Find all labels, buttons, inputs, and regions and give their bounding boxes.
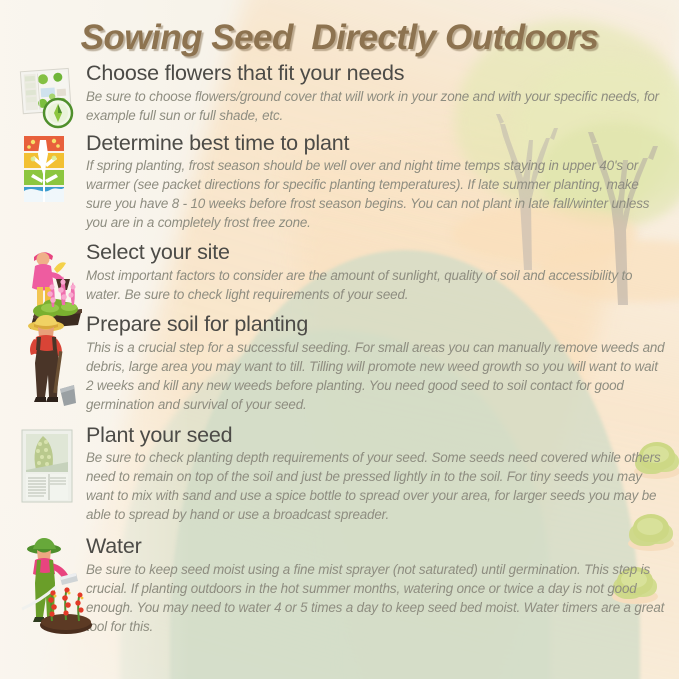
step-item-determine-time: Determine best time to plant If spring p… <box>0 132 679 233</box>
step-heading: Select your site <box>86 241 665 264</box>
garden-plan-compass-icon <box>16 64 78 132</box>
seed-packet-icon <box>16 426 82 508</box>
step-heading: Water <box>86 535 665 558</box>
step-item-water: Water Be sure to keep seed moist using a… <box>0 535 679 636</box>
step-item-plant-seed: Plant your seed Be sure to check plantin… <box>0 424 679 525</box>
page-title: Sowing Seed Directly Outdoors <box>0 18 679 58</box>
step-text-block: Water Be sure to keep seed moist using a… <box>82 535 665 636</box>
step-text-block: Determine best time to plant If spring p… <box>82 132 665 233</box>
step-body: Be sure to check planting depth requirem… <box>86 448 665 524</box>
step-item-prepare-soil: Prepare soil for planting This is a cruc… <box>0 313 679 414</box>
compass-rose <box>44 99 72 127</box>
step-text-block: Prepare soil for planting This is a cruc… <box>82 313 665 414</box>
step-item-select-site: Select your site Most important factors … <box>0 241 679 304</box>
step-heading: Prepare soil for planting <box>86 313 665 336</box>
gardener-watering-icon <box>16 535 94 635</box>
step-body: Be sure to keep seed moist using a fine … <box>86 560 665 636</box>
step-text-block: Choose flowers that fit your needs Be su… <box>82 62 665 125</box>
step-item-choose-flowers: Choose flowers that fit your needs Be su… <box>0 62 679 125</box>
step-heading: Determine best time to plant <box>86 132 665 155</box>
step-heading: Plant your seed <box>86 424 665 447</box>
four-seasons-icon <box>16 134 72 206</box>
gardener-with-shovel-icon <box>16 313 82 411</box>
step-body: If spring planting, frost season should … <box>86 156 665 232</box>
step-body: This is a crucial step for a successful … <box>86 338 665 414</box>
step-heading: Choose flowers that fit your needs <box>86 62 665 85</box>
step-body: Be sure to choose flowers/ground cover t… <box>86 87 665 125</box>
step-text-block: Select your site Most important factors … <box>82 241 665 304</box>
infographic-poster: Sowing Seed Directly Outdoors <box>0 0 679 679</box>
step-text-block: Plant your seed Be sure to check plantin… <box>82 424 665 525</box>
steps-list: Choose flowers that fit your needs Be su… <box>0 62 679 636</box>
step-body: Most important factors to consider are t… <box>86 266 665 304</box>
